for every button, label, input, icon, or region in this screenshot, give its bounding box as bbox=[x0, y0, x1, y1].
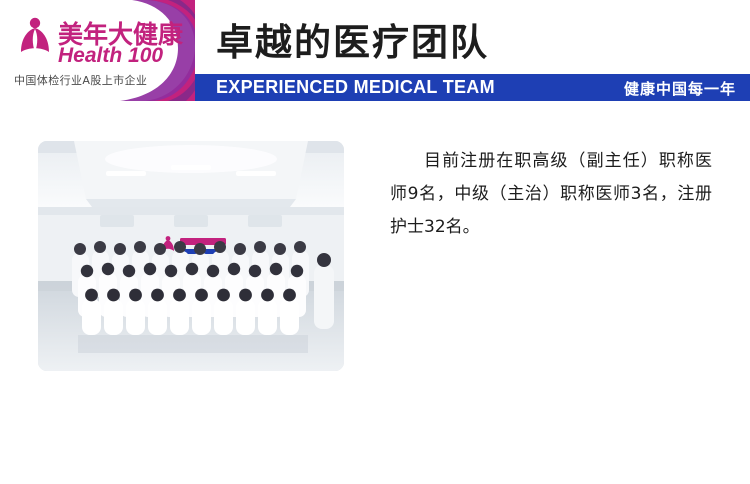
logo-tagline: 中国体检行业A股上市企业 bbox=[14, 72, 147, 88]
header-title-area: 卓越的医疗团队 bbox=[194, 0, 750, 74]
brand-logo-block: 美年大健康 Health 100 中国体检行业A股上市企业 bbox=[0, 0, 195, 101]
page-header: 卓越的医疗团队 EXPERIENCED MEDICAL TEAM 健康中国每一年… bbox=[0, 0, 750, 101]
team-photo bbox=[38, 141, 344, 371]
body-paragraph: 目前注册在职高级（副主任）职称医师9名，中级（主治）职称医师3名，注册护士32名… bbox=[390, 145, 712, 244]
page-root: 卓越的医疗团队 EXPERIENCED MEDICAL TEAM 健康中国每一年… bbox=[0, 0, 750, 484]
header-subtitle-en: EXPERIENCED MEDICAL TEAM bbox=[216, 77, 495, 98]
logo-brand-en: Health 100 bbox=[58, 44, 163, 68]
logo-figure-icon bbox=[14, 16, 56, 58]
header-blue-band: EXPERIENCED MEDICAL TEAM 健康中国每一年 bbox=[194, 74, 750, 101]
team-photo-illustration bbox=[38, 141, 344, 371]
page-title: 卓越的医疗团队 bbox=[216, 12, 489, 66]
page-content: 目前注册在职高级（副主任）职称医师9名，中级（主治）职称医师3名，注册护士32名… bbox=[0, 101, 750, 484]
header-slogan: 健康中国每一年 bbox=[624, 78, 736, 99]
